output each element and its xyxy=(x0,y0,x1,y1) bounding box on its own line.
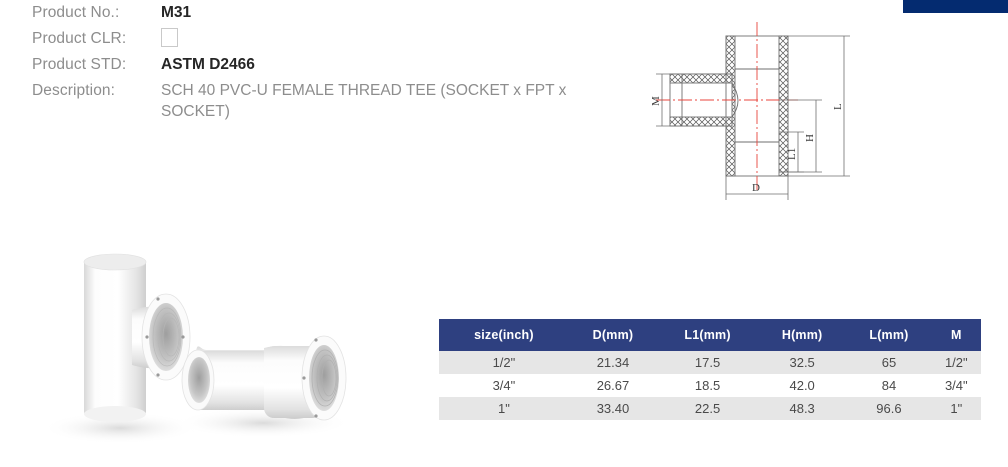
technical-drawing: M L H L1 D xyxy=(648,14,884,214)
top-accent-bar xyxy=(903,0,1008,13)
spec-row-description: Description: SCH 40 PVC-U FEMALE THREAD … xyxy=(32,80,592,122)
table-row: 3/4" 26.67 18.5 42.0 84 3/4" xyxy=(439,374,981,397)
cell-h: 48.3 xyxy=(758,397,846,420)
spec-value-description: SCH 40 PVC-U FEMALE THREAD TEE (SOCKET x… xyxy=(154,80,574,122)
spec-label-product-std: Product STD: xyxy=(32,54,154,75)
cell-d: 26.67 xyxy=(569,374,657,397)
col-header-l1: L1(mm) xyxy=(657,319,758,351)
cell-h: 42.0 xyxy=(758,374,846,397)
table-row: 1" 33.40 22.5 48.3 96.6 1" xyxy=(439,397,981,420)
dim-label-l1: L1 xyxy=(786,148,798,160)
cell-l1: 22.5 xyxy=(657,397,758,420)
col-header-m: M xyxy=(932,319,981,351)
spec-label-product-clr: Product CLR: xyxy=(32,28,154,49)
spec-row-product-std: Product STD: ASTM D2466 xyxy=(32,54,592,75)
product-spec-page: Product No.: M31 Product CLR: Product ST… xyxy=(0,0,1008,467)
dim-label-m: M xyxy=(650,96,662,106)
dimensions-table: size(inch) D(mm) L1(mm) H(mm) L(mm) M 1/… xyxy=(439,319,981,420)
product-spec-list: Product No.: M31 Product CLR: Product ST… xyxy=(32,2,592,127)
dim-label-h: H xyxy=(804,134,816,142)
cell-size: 1/2" xyxy=(439,351,569,374)
cell-d: 33.40 xyxy=(569,397,657,420)
spec-value-product-std: ASTM D2466 xyxy=(154,54,255,75)
cell-l1: 18.5 xyxy=(657,374,758,397)
color-swatch-box[interactable] xyxy=(161,28,178,47)
cell-m: 3/4" xyxy=(932,374,981,397)
spec-label-description: Description: xyxy=(32,80,154,101)
table-row: 1/2" 21.34 17.5 32.5 65 1/2" xyxy=(439,351,981,374)
col-header-size: size(inch) xyxy=(439,319,569,351)
side-tee-photo xyxy=(175,336,351,438)
spec-label-product-no: Product No.: xyxy=(32,2,154,23)
cell-size: 1" xyxy=(439,397,569,420)
cell-m: 1/2" xyxy=(932,351,981,374)
upright-tee-photo xyxy=(42,254,198,444)
dim-label-d: D xyxy=(752,182,760,194)
dim-label-l: L xyxy=(832,103,844,110)
cell-l1: 17.5 xyxy=(657,351,758,374)
col-header-l: L(mm) xyxy=(846,319,931,351)
cell-m: 1" xyxy=(932,397,981,420)
cell-l: 84 xyxy=(846,374,931,397)
spec-value-product-no: M31 xyxy=(154,2,191,23)
col-header-d: D(mm) xyxy=(569,319,657,351)
cell-l: 96.6 xyxy=(846,397,931,420)
spec-row-product-no: Product No.: M31 xyxy=(32,2,592,23)
spec-row-product-clr: Product CLR: xyxy=(32,28,592,49)
cell-d: 21.34 xyxy=(569,351,657,374)
cell-h: 32.5 xyxy=(758,351,846,374)
table-header-row: size(inch) D(mm) L1(mm) H(mm) L(mm) M xyxy=(439,319,981,351)
product-photos xyxy=(28,238,378,467)
col-header-h: H(mm) xyxy=(758,319,846,351)
cell-size: 3/4" xyxy=(439,374,569,397)
cell-l: 65 xyxy=(846,351,931,374)
